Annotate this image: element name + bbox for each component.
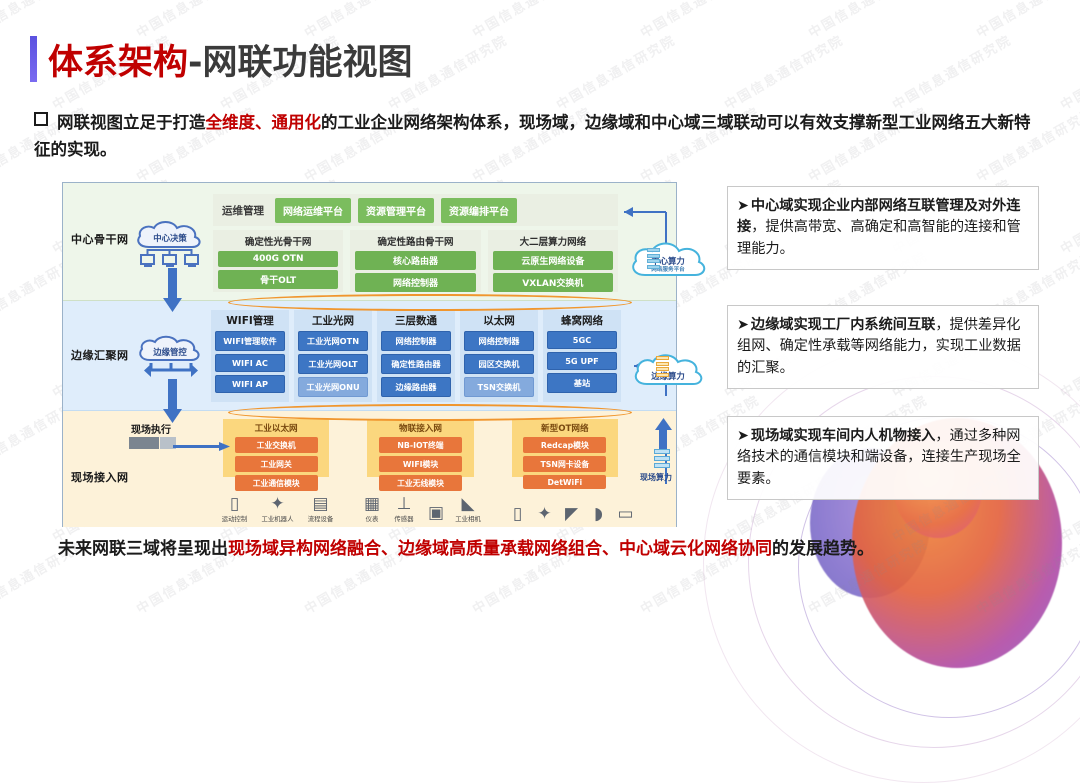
center-to-edge-arrow (163, 268, 183, 313)
servo-drive-icon: ▯ (513, 505, 522, 523)
device-vision-sensor: ◗ (585, 505, 612, 523)
summary-part1: 未来网联三域将呈现出 (58, 539, 228, 559)
device-group-ot: ▯ ✦ ◤ ◗ ▭ (504, 505, 639, 523)
process-equipment-icon: ▤ (312, 495, 328, 513)
column-title: 蜂窝网络 (561, 313, 603, 328)
industrial-robot-icon: ✦ (270, 495, 284, 513)
ops-chip[interactable]: 资源编排平台 (441, 198, 517, 223)
device-label: 工业相机 (455, 514, 481, 523)
watermark-text: 中国信息通信研究院 (888, 30, 1014, 114)
center-columns: 确定性光骨干网 400G OTN 骨干OLT 确定性路由骨干网 核心路由器 网络… (213, 230, 618, 292)
center-column: 确定性路由骨干网 核心路由器 网络控制器 (350, 230, 480, 292)
device-servo-drive: ▯ (504, 505, 531, 523)
field-item[interactable]: Redcap模块 (523, 437, 606, 453)
column-title: WIFI管理 (226, 313, 274, 328)
column-title: 工业以太网 (255, 422, 298, 434)
center-compute-stack-icon (647, 248, 660, 269)
edge-column: 工业光网 工业光网OTN 工业光网OLT 工业光网ONU (294, 310, 372, 402)
chevron-right-icon: ➤ (737, 317, 749, 333)
device-sensor: ⊥ 传感器 (388, 495, 420, 523)
field-compute-stack-icon (654, 449, 670, 468)
center-item[interactable]: VXLAN交换机 (493, 273, 613, 292)
device-motion-controller: ▯ 运动控制 (213, 495, 256, 523)
field-item[interactable]: NB-IOT终端 (379, 437, 462, 453)
watermark-text: 中国信息通信研究院 (1056, 30, 1080, 114)
callout-edge-domain: ➤边缘域实现工厂内系统间互联，提供差异化组网、确定性承载等网络能力，实现工业数据… (727, 305, 1039, 389)
ops-chip[interactable]: 资源管理平台 (358, 198, 434, 223)
edge-domain-band: 边缘汇聚网 WIFI管理 WIFI管理软件 WIFI AC WIFI AP 工业… (63, 301, 676, 411)
ops-chip[interactable]: 网络运维平台 (275, 198, 351, 223)
robot-arm-icon: ✦ (537, 505, 551, 523)
center-item[interactable]: 网络控制器 (355, 273, 475, 292)
edge-to-field-arrow (163, 379, 183, 424)
watermark-text: 中国信息通信研究院 (636, 0, 762, 41)
instrument-icon: ▦ (364, 495, 380, 513)
edge-row-label: 边缘汇聚网 (71, 347, 129, 363)
column-title: 以太网 (483, 313, 515, 328)
page-title-rest: -网联功能视图 (188, 43, 413, 83)
title-accent-bar (30, 36, 37, 82)
column-title: 大二层算力网络 (520, 234, 587, 248)
column-title: 确定性路由骨干网 (377, 234, 453, 248)
edge-item[interactable]: TSN交换机 (464, 377, 534, 397)
edge-item[interactable]: WIFI AC (215, 354, 285, 372)
center-column: 大二层算力网络 云原生网络设备 VXLAN交换机 (488, 230, 618, 292)
device-group-ethernet: ▯ 运动控制 ✦ 工业机器人 ▤ 流程设备 (213, 495, 342, 523)
page-title: 体系架构-网联功能视图 (48, 34, 413, 85)
industrial-camera-icon: ◣ (461, 495, 474, 513)
callout-field-domain: ➤现场域实现车间内人机物接入，通过多种网络技术的通信模块和端设备，连接生产现场全… (727, 416, 1039, 500)
column-title: 新型OT网络 (541, 422, 589, 434)
device-rfid: ▣ (420, 504, 452, 523)
device-instrument: ▦ 仪表 (356, 495, 388, 523)
center-item[interactable]: 云原生网络设备 (493, 251, 613, 270)
motion-controller-icon: ▯ (230, 495, 239, 513)
field-item[interactable]: WIFI模块 (379, 456, 462, 472)
device-label: 运动控制 (222, 514, 248, 523)
callout-bold: 现场域实现车间内人机物接入 (751, 428, 935, 444)
page-title-highlight: 体系架构 (48, 43, 188, 83)
edge-item[interactable]: 工业光网OLT (298, 354, 368, 374)
edge-field-link-ellipse (228, 404, 632, 421)
watermark-text: 中国信息通信研究院 (972, 0, 1080, 41)
center-compute-cloud-icon: 中心算力 网络服务平台 (625, 240, 711, 284)
edge-item[interactable]: 工业光网ONU (298, 377, 368, 397)
edge-bidirectional-arrows-icon (135, 359, 207, 379)
chevron-right-icon: ➤ (737, 198, 749, 214)
watermark-text: 中国信息通信研究院 (1056, 174, 1080, 258)
device-process-equipment: ▤ 流程设备 (299, 495, 342, 523)
edge-column: 三层数通 网络控制器 确定性路由器 边缘路由器 (377, 310, 455, 402)
edge-item[interactable]: 园区交换机 (464, 354, 534, 374)
device-group-iot: ▦ 仪表 ⊥ 传感器 ▣ ◣ 工业相机 (356, 495, 484, 523)
watermark-text: 中国信息通信研究院 (468, 0, 594, 41)
summary-highlight: 现场域异构网络融合、边缘域高质量承载网络组合、中心域云化网络协同 (228, 539, 772, 559)
field-column: 工业以太网 工业交换机 工业网关 工业通信模块 (223, 419, 329, 477)
edge-column: 以太网 网络控制器 园区交换机 TSN交换机 (460, 310, 538, 402)
edge-item[interactable]: 工业光网OTN (298, 331, 368, 351)
center-domain-band: 中心骨干网 运维管理 网络运维平台 资源管理平台 资源编排平台 确定性光骨干网 … (63, 183, 676, 301)
sensor-icon: ⊥ (397, 495, 412, 513)
column-title: 物联接入网 (399, 422, 442, 434)
exec-to-field-arrow (173, 441, 231, 453)
edge-item[interactable]: WIFI管理软件 (215, 331, 285, 351)
field-column: 物联接入网 NB-IOT终端 WIFI模块 工业无线模块 (367, 419, 473, 477)
edge-columns: WIFI管理 WIFI管理软件 WIFI AC WIFI AP 工业光网 工业光… (211, 310, 621, 402)
field-domain-band: 现场接入网 现场执行 工业以太网 工业交换机 工业网关 工业通信模块 物联接入网… (63, 411, 676, 527)
edge-item[interactable]: WIFI AP (215, 375, 285, 393)
bullet-square-icon (34, 112, 48, 126)
device-label: 传感器 (394, 514, 413, 523)
edge-item[interactable]: 边缘路由器 (381, 377, 451, 397)
edge-item[interactable]: 网络控制器 (381, 331, 451, 351)
watermark-text: 中国信息通信研究院 (552, 30, 678, 114)
intro-bullet: 网联视图立足于打造全维度、通用化的工业企业网络架构体系，现场域，边缘域和中心域三… (34, 110, 1044, 163)
field-compute-label: 现场算力 (640, 472, 672, 483)
field-item[interactable]: TSN网卡设备 (523, 456, 606, 472)
device-industrial-camera: ◣ 工业相机 (452, 495, 484, 523)
watermark-text: 中国信息通信研究院 (804, 0, 930, 41)
edge-item[interactable]: 确定性路由器 (381, 354, 451, 374)
device-label: 仪表 (366, 514, 379, 523)
watermark-text: 中国信息通信研究院 (720, 30, 846, 114)
camera-icon: ◤ (565, 505, 578, 523)
device-industrial-robot: ✦ 工业机器人 (256, 495, 299, 523)
ops-management-strip: 运维管理 网络运维平台 资源管理平台 资源编排平台 (213, 194, 618, 226)
summary-part2: 的发展趋势。 (772, 539, 874, 559)
summary-text: 未来网联三域将呈现出现场域异构网络融合、边缘域高质量承载网络组合、中心域云化网络… (58, 536, 1048, 563)
field-item[interactable]: 工业交换机 (235, 437, 318, 453)
column-title: 工业光网 (312, 313, 354, 328)
device-label: 工业机器人 (262, 514, 294, 523)
callout-bold: 边缘域实现工厂内系统间互联 (751, 317, 935, 333)
device-camera: ◤ (558, 505, 585, 523)
field-device-strip: ▯ 运动控制 ✦ 工业机器人 ▤ 流程设备 ▦ 仪表 ⊥ (213, 479, 633, 523)
device-robot-arm: ✦ (531, 505, 558, 523)
edge-compute-stack-icon (656, 356, 669, 377)
center-edge-link-ellipse (228, 294, 632, 311)
device-hmi-panel: ▭ (612, 505, 639, 523)
column-title: 三层数通 (395, 313, 437, 328)
center-column: 确定性光骨干网 400G OTN 骨干OLT (213, 230, 343, 292)
intro-part1: 网联视图立足于打造 (57, 113, 206, 132)
device-label: 流程设备 (308, 514, 334, 523)
column-title: 确定性光骨干网 (245, 234, 312, 248)
center-item[interactable]: 400G OTN (218, 251, 338, 267)
hmi-panel-icon: ▭ (617, 505, 633, 523)
plc-controller-icon (129, 435, 177, 451)
left-spine (167, 243, 171, 423)
callout-center-domain: ➤中心域实现企业内部网络互联管理及对外连接，提供高带宽、高确定和高智能的连接和管… (727, 186, 1039, 270)
ops-management-label: 运维管理 (222, 203, 264, 218)
field-compute-up-arrow (655, 418, 673, 452)
network-architecture-diagram: 中心骨干网 运维管理 网络运维平台 资源管理平台 资源编排平台 确定性光骨干网 … (62, 182, 677, 527)
intro-highlight: 全维度、通用化 (206, 113, 322, 132)
center-item[interactable]: 核心路由器 (355, 251, 475, 270)
chevron-right-icon: ➤ (737, 428, 749, 444)
edge-item[interactable]: 网络控制器 (464, 331, 534, 351)
edge-column: WIFI管理 WIFI管理软件 WIFI AC WIFI AP (211, 310, 289, 402)
center-item[interactable]: 骨干OLT (218, 270, 338, 289)
field-columns: 工业以太网 工业交换机 工业网关 工业通信模块 物联接入网 NB-IOT终端 W… (223, 419, 618, 477)
vision-sensor-icon: ◗ (594, 505, 603, 523)
callout-rest: ，提供高带宽、高确定和高智能的连接和管理能力。 (737, 219, 1021, 256)
field-item[interactable]: 工业网关 (235, 456, 318, 472)
field-row-label: 现场接入网 (71, 469, 129, 485)
center-row-label: 中心骨干网 (71, 231, 129, 247)
rfid-icon: ▣ (428, 504, 444, 522)
